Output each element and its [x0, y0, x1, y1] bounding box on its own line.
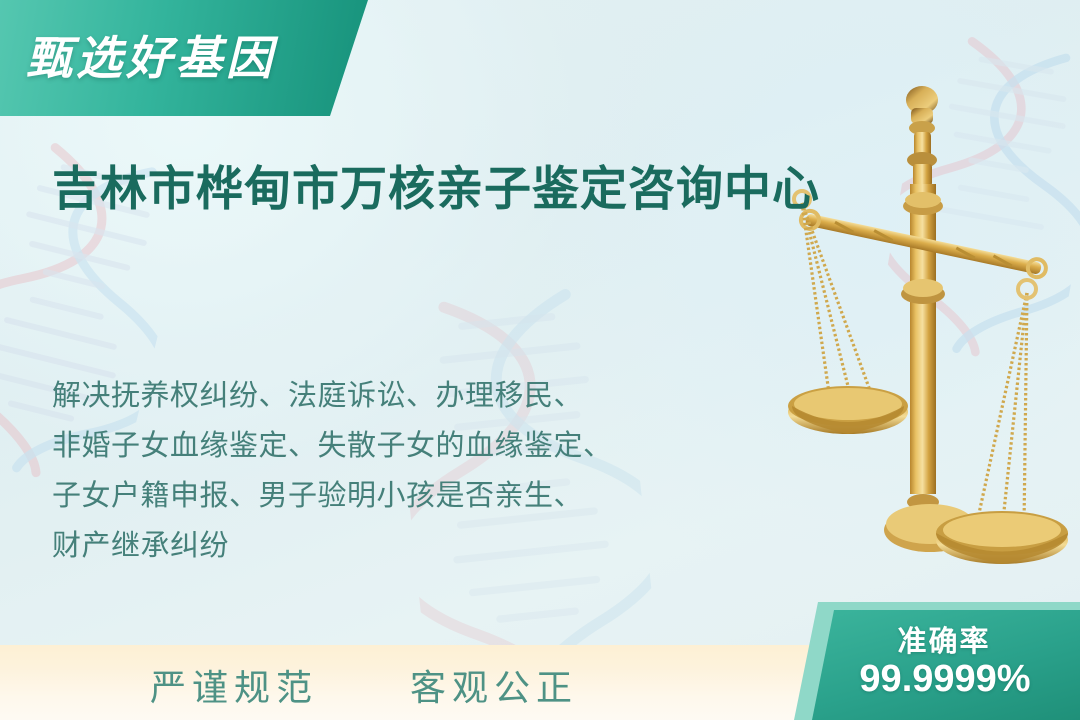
promotional-poster: 甄选好基因 吉林市桦甸市万核亲子鉴定咨询中心 解决抚养权纠纷、法庭诉讼、办理移民… — [0, 0, 1080, 720]
accuracy-value: 99.9999% — [812, 658, 1078, 701]
slogan-list: 严谨规范 客观公正 — [150, 659, 578, 711]
page-title: 吉林市桦甸市万核亲子鉴定咨询中心 — [52, 158, 852, 220]
brand-logo-text: 甄选好基因 — [26, 22, 276, 88]
description-line: 非婚子女血缘鉴定、失散子女的血缘鉴定、 — [52, 422, 742, 472]
accuracy-badge: 准确率 99.9999% — [812, 610, 1080, 720]
service-description: 解决抚养权纠纷、法庭诉讼、办理移民、 非婚子女血缘鉴定、失散子女的血缘鉴定、 子… — [52, 372, 742, 572]
description-line: 财产继承纠纷 — [52, 522, 742, 572]
accuracy-label: 准确率 — [812, 618, 1076, 660]
description-line: 子女户籍申报、男子验明小孩是否亲生、 — [52, 472, 742, 522]
dna-helix-icon — [875, 29, 1080, 371]
slogan-item: 客观公正 — [410, 659, 578, 711]
slogan-item: 严谨规范 — [150, 659, 318, 711]
description-line: 解决抚养权纠纷、法庭诉讼、办理移民、 — [52, 372, 742, 422]
